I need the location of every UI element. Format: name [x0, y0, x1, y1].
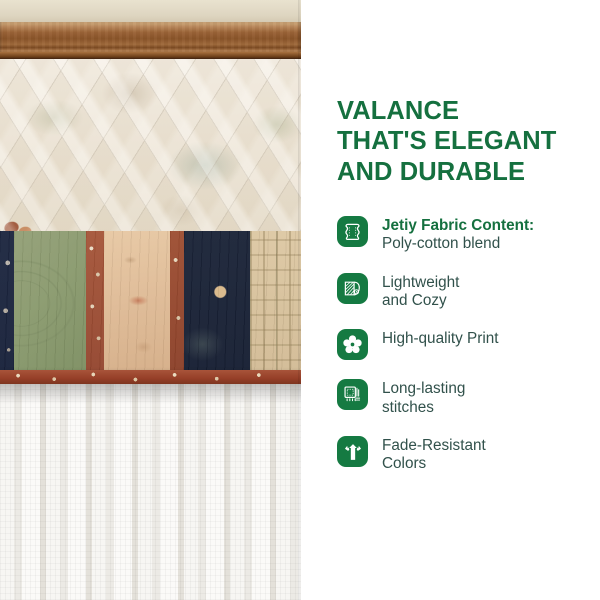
content-panel: VALANCE THAT'S ELEGANT AND DURABLE Jetiy…: [301, 0, 600, 600]
headline-line-2: THAT'S ELEGANT: [337, 126, 587, 156]
feature-list: Jetiy Fabric Content: Poly-cotton blend: [337, 215, 589, 474]
feature-label-fade-resistant: Fade-Resistant Colors: [382, 435, 486, 474]
tshirt-icon: [337, 436, 368, 467]
feature-item-lightweight: Lightweight and Cozy: [337, 272, 589, 311]
feature-line-1: Lightweight: [382, 274, 459, 291]
feature-item-fade-resistant: Fade-Resistant Colors: [337, 435, 589, 474]
feature-line-2: Colors: [382, 455, 426, 472]
feature-label-fabric-content: Jetiy Fabric Content: Poly-cotton blend: [382, 215, 534, 254]
flower-icon: [337, 329, 368, 360]
feature-item-stitches: Long-lasting stitches: [337, 378, 589, 417]
cornice-lip: [0, 52, 301, 59]
patchwork-strip-band: [0, 231, 301, 376]
rust-floral-binding: [0, 370, 301, 384]
feature-bold-text: Jetiy Fabric Content: [382, 217, 529, 234]
patch-tan-plaid: [250, 231, 301, 376]
patch-rust-floral-strip: [86, 231, 104, 376]
feature-item-fabric-content: Jetiy Fabric Content: Poly-cotton blend: [337, 215, 589, 254]
cream-quilted-panel: [0, 59, 301, 231]
leather-hide-icon: [337, 216, 368, 247]
feature-label-stitches: Long-lasting stitches: [382, 378, 465, 417]
feature-line-2: and Cozy: [382, 292, 447, 309]
feature-line-1: High-quality Print: [382, 330, 498, 347]
feature-label-print-quality: High-quality Print: [382, 328, 498, 348]
white-linen-curtain: [0, 384, 301, 600]
feature-value-text: Poly-cotton blend: [382, 235, 500, 252]
patch-peach-tan: [104, 231, 170, 376]
headline-line-3: AND DURABLE: [337, 157, 587, 187]
feature-item-print-quality: High-quality Print: [337, 328, 589, 360]
feature-line-1: Long-lasting: [382, 380, 465, 397]
patch-navy-floral-narrow: [0, 231, 14, 376]
patch-rust-floral-strip-2: [170, 231, 184, 376]
page-title: VALANCE THAT'S ELEGANT AND DURABLE: [337, 96, 587, 187]
feature-label-lightweight: Lightweight and Cozy: [382, 272, 459, 311]
stitched-patch-icon: [337, 379, 368, 410]
headline-line-1: VALANCE: [337, 96, 587, 126]
product-photo: [0, 0, 301, 600]
fabric-roll-icon: [337, 273, 368, 304]
patch-sage-green: [14, 231, 86, 376]
product-feature-card: VALANCE THAT'S ELEGANT AND DURABLE Jetiy…: [0, 0, 600, 600]
feature-line-2: stitches: [382, 399, 434, 416]
feature-line-1: Fade-Resistant: [382, 437, 486, 454]
feature-bold-colon: :: [529, 217, 534, 234]
patch-navy-with-flower: [184, 231, 250, 376]
